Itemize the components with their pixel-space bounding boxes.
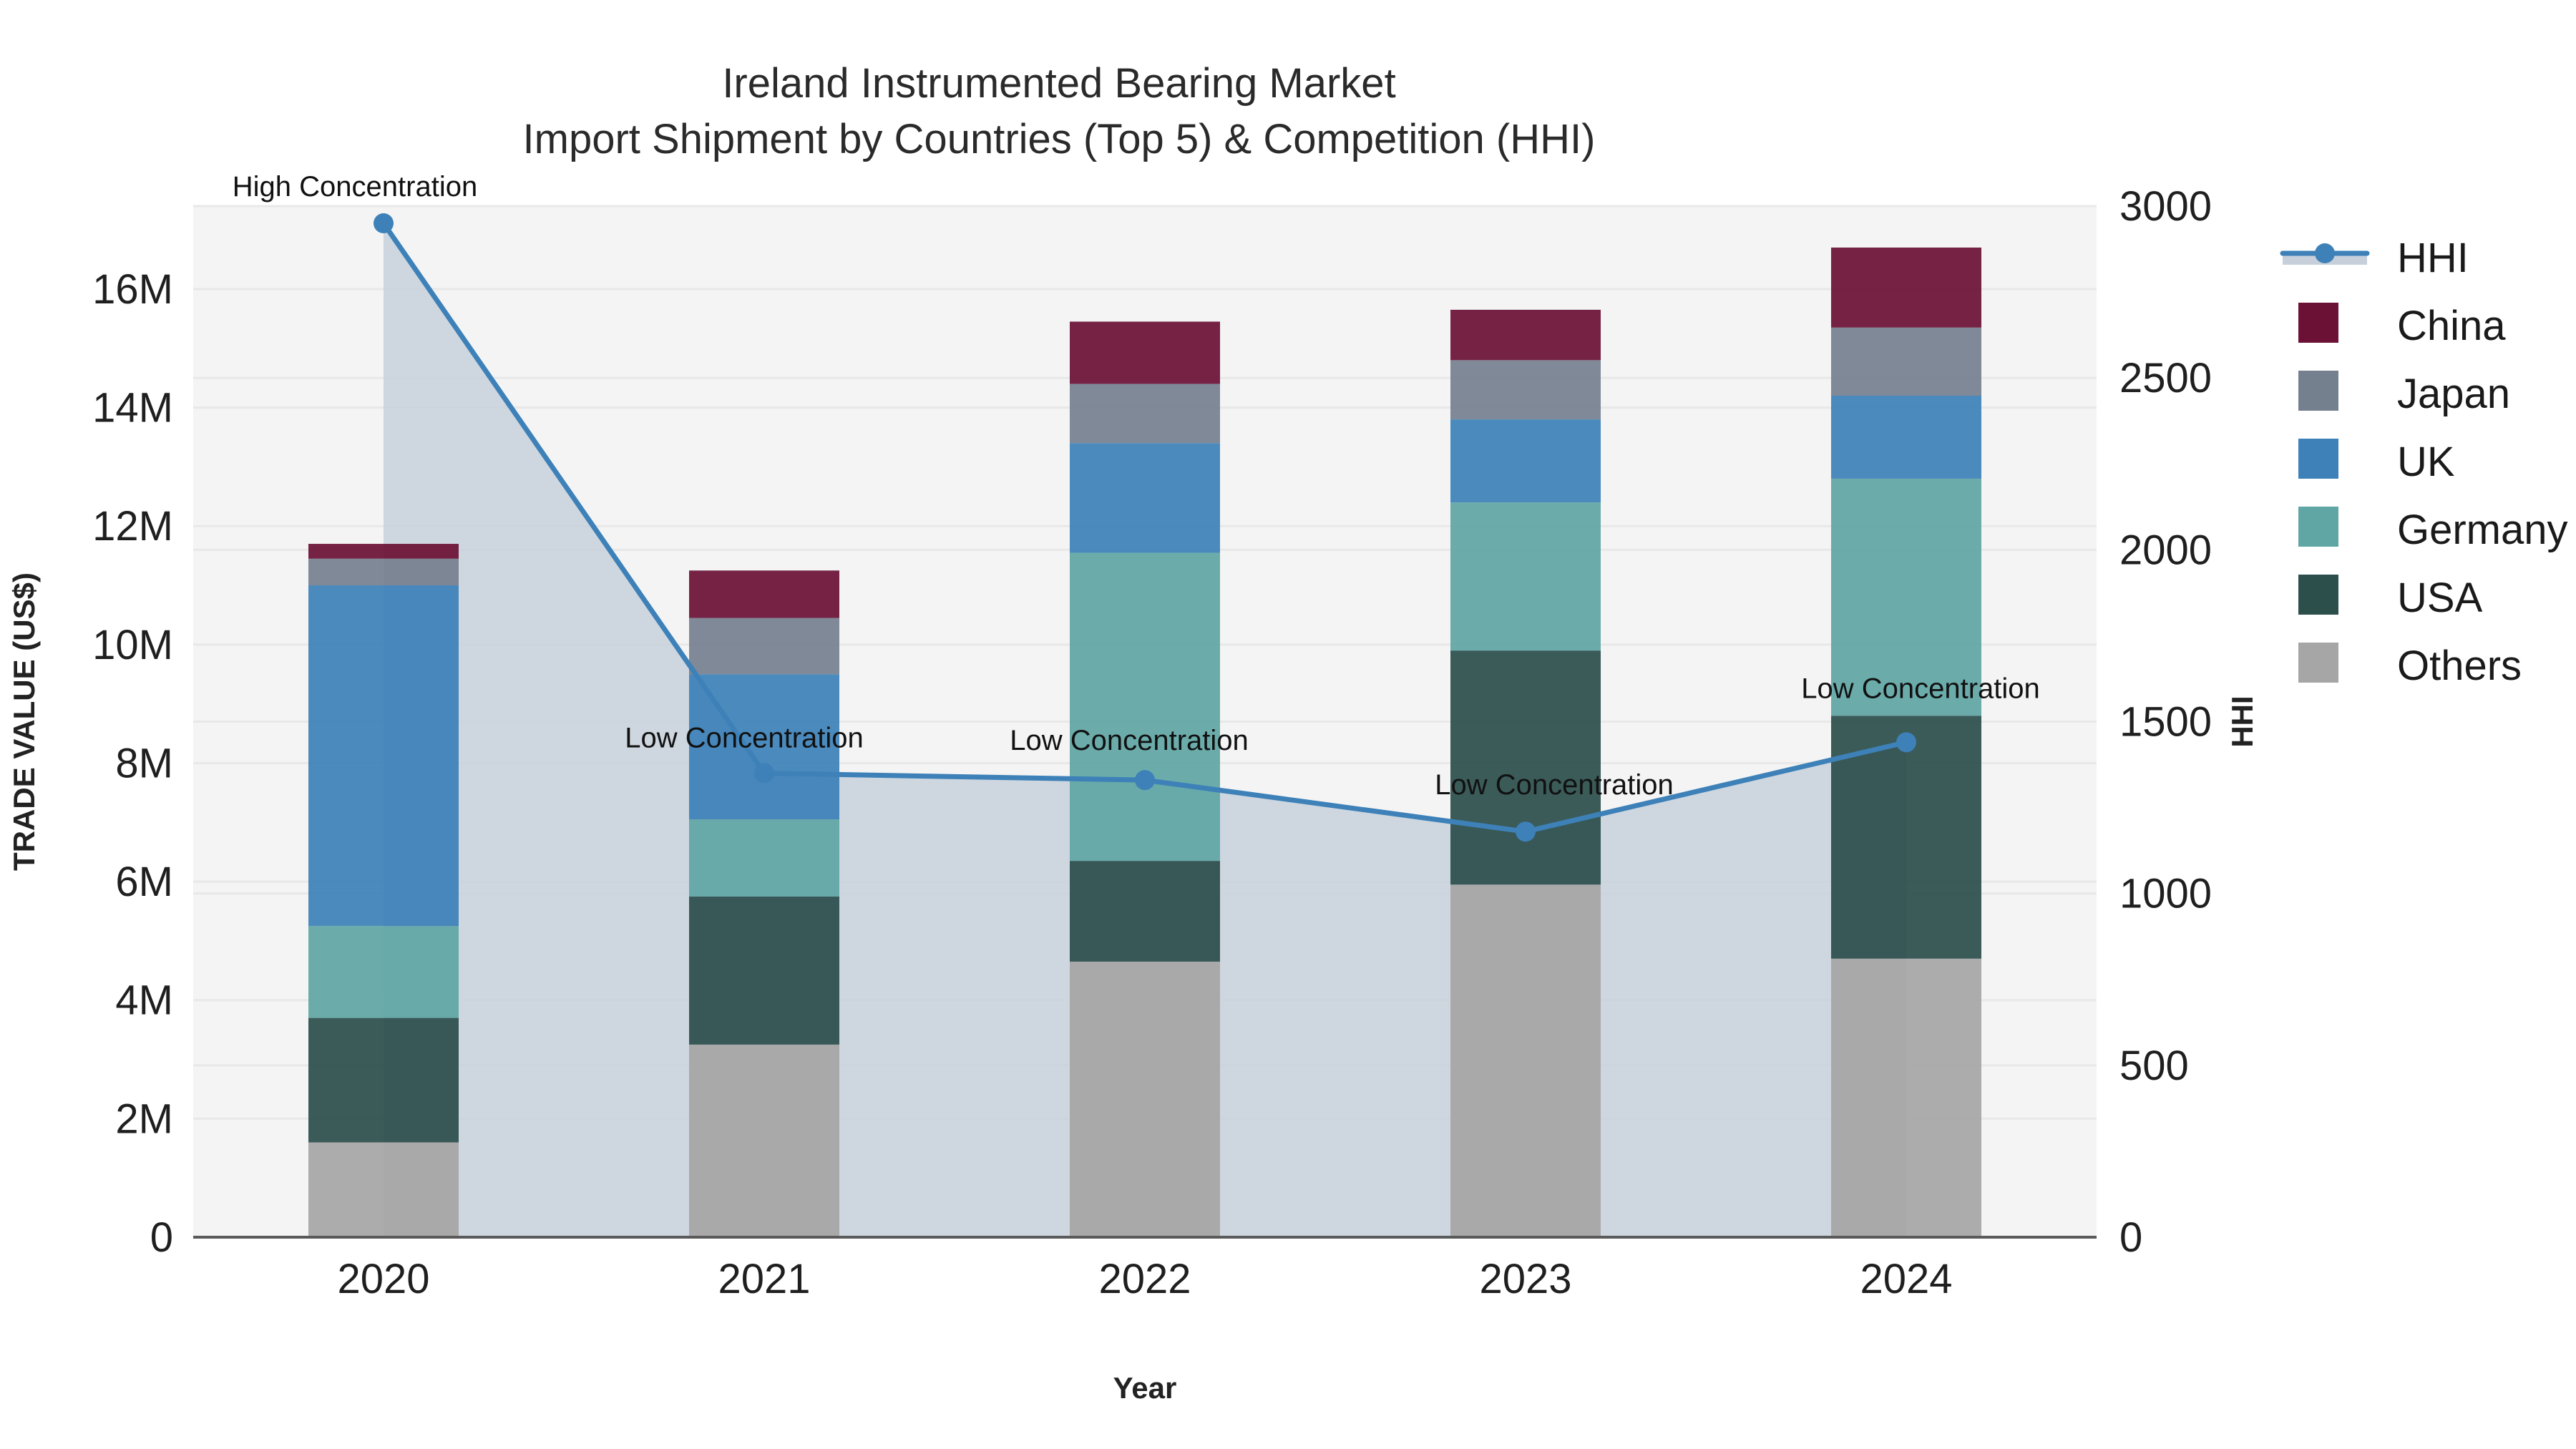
bar-segment-2024-Japan[interactable] — [1831, 328, 1981, 396]
bar-segment-2024-China[interactable] — [1831, 248, 1981, 328]
bar-segment-2023-Others[interactable] — [1450, 884, 1601, 1237]
y-tick-label-left: 10M — [92, 622, 173, 668]
y-tick-label-left: 8M — [115, 740, 173, 786]
bar-segment-2022-Germany[interactable] — [1070, 552, 1220, 861]
y-tick-label-left: 6M — [115, 859, 173, 905]
annotation-2024: Low Concentration — [1801, 673, 2040, 704]
bar-segment-2020-Japan[interactable] — [308, 559, 459, 585]
bar-segment-2024-Others[interactable] — [1831, 959, 1981, 1237]
bar-segment-2021-Germany[interactable] — [689, 819, 839, 897]
bar-segment-2021-Japan[interactable] — [689, 618, 839, 675]
legend-color-swatch-Japan — [2298, 371, 2338, 411]
bar-segment-2020-Others[interactable] — [308, 1142, 459, 1237]
bar-stack-2020 — [308, 544, 459, 1237]
bar-segment-2020-China[interactable] — [308, 544, 459, 559]
y-tick-label-left: 12M — [92, 503, 173, 550]
y-tick-label-right: 3000 — [2119, 183, 2212, 230]
legend-label-HHI: HHI — [2397, 235, 2469, 281]
x-tick-label-2023: 2023 — [1479, 1256, 1571, 1302]
y-tick-label-right: 0 — [2119, 1214, 2142, 1261]
legend-color-swatch-China — [2298, 303, 2338, 343]
legend-label-Others: Others — [2397, 643, 2522, 689]
y-tick-label-left: 4M — [115, 977, 173, 1024]
legend-item-HHI[interactable] — [2283, 243, 2367, 265]
bar-segment-2021-Others[interactable] — [689, 1045, 839, 1237]
annotation-2023: Low Concentration — [1435, 769, 1674, 801]
x-tick-label-2024: 2024 — [1860, 1256, 1952, 1302]
legend-item-Others[interactable] — [2298, 643, 2338, 683]
annotation-2020: High Concentration — [233, 171, 477, 203]
bar-segment-2020-UK[interactable] — [308, 585, 459, 926]
bar-segment-2023-USA[interactable] — [1450, 650, 1601, 884]
bar-stack-2021 — [689, 570, 839, 1237]
hhi-marker-2020[interactable] — [374, 213, 394, 233]
annotation-2022: Low Concentration — [1010, 725, 1249, 756]
legend-color-swatch-Germany — [2298, 507, 2338, 547]
y-tick-label-left: 0 — [150, 1214, 173, 1261]
y-tick-label-right: 2000 — [2119, 527, 2212, 573]
legend-label-Japan: Japan — [2397, 371, 2510, 417]
y-axis-title-left: TRADE VALUE (US$) — [7, 572, 41, 871]
legend-item-UK[interactable] — [2298, 439, 2338, 479]
y-tick-label-right: 500 — [2119, 1043, 2189, 1089]
hhi-marker-2022[interactable] — [1135, 770, 1155, 790]
annotation-2021: Low Concentration — [625, 723, 864, 754]
legend-label-Germany: Germany — [2397, 507, 2568, 553]
chart-page: Ireland Instrumented Bearing Market Impo… — [0, 0, 2576, 1449]
bar-segment-2022-Others[interactable] — [1070, 962, 1220, 1237]
bar-segment-2022-UK[interactable] — [1070, 443, 1220, 552]
y-tick-label-right: 2500 — [2119, 355, 2212, 401]
bar-segment-2022-USA[interactable] — [1070, 861, 1220, 962]
bar-segment-2023-Germany[interactable] — [1450, 502, 1601, 650]
hhi-marker-2023[interactable] — [1516, 821, 1536, 841]
hhi-marker-2024[interactable] — [1896, 732, 1916, 752]
legend-item-China[interactable] — [2298, 303, 2338, 343]
legend-item-USA[interactable] — [2298, 575, 2338, 615]
bar-segment-2024-UK[interactable] — [1831, 396, 1981, 479]
bar-segment-2023-Japan[interactable] — [1450, 360, 1601, 419]
legend-label-USA: USA — [2397, 575, 2483, 621]
y-tick-label-left: 2M — [115, 1096, 173, 1142]
y-tick-label-left: 14M — [92, 385, 173, 431]
y-tick-label-right: 1500 — [2119, 699, 2212, 746]
y-axis-title-right: HHI — [2225, 696, 2259, 747]
legend-item-Japan[interactable] — [2298, 371, 2338, 411]
bar-segment-2020-Germany[interactable] — [308, 926, 459, 1018]
legend-label-UK: UK — [2397, 439, 2455, 485]
bar-segment-2023-UK[interactable] — [1450, 419, 1601, 502]
y-tick-label-left: 16M — [92, 266, 173, 313]
bar-segment-2022-Japan[interactable] — [1070, 384, 1220, 443]
legend-label-China: China — [2397, 303, 2506, 349]
bar-segment-2021-USA[interactable] — [689, 897, 839, 1045]
legend-color-swatch-USA — [2298, 575, 2338, 615]
bar-segment-2020-USA[interactable] — [308, 1018, 459, 1143]
x-axis-title: Year — [1113, 1371, 1177, 1405]
chart-canvas: 02M4M6M8M10M12M14M16M0500100015002000250… — [0, 0, 2576, 1449]
bar-segment-2021-China[interactable] — [689, 570, 839, 618]
bar-segment-2023-China[interactable] — [1450, 310, 1601, 360]
hhi-marker-2021[interactable] — [754, 763, 774, 784]
legend-item-Germany[interactable] — [2298, 507, 2338, 547]
x-tick-label-2022: 2022 — [1098, 1256, 1191, 1302]
bar-segment-2022-China[interactable] — [1070, 321, 1220, 384]
x-tick-label-2021: 2021 — [718, 1256, 810, 1302]
legend-color-swatch-Others — [2298, 643, 2338, 683]
legend-color-swatch-UK — [2298, 439, 2338, 479]
y-tick-label-right: 1000 — [2119, 871, 2212, 917]
x-tick-label-2020: 2020 — [337, 1256, 429, 1302]
legend-marker-dot — [2315, 243, 2335, 263]
